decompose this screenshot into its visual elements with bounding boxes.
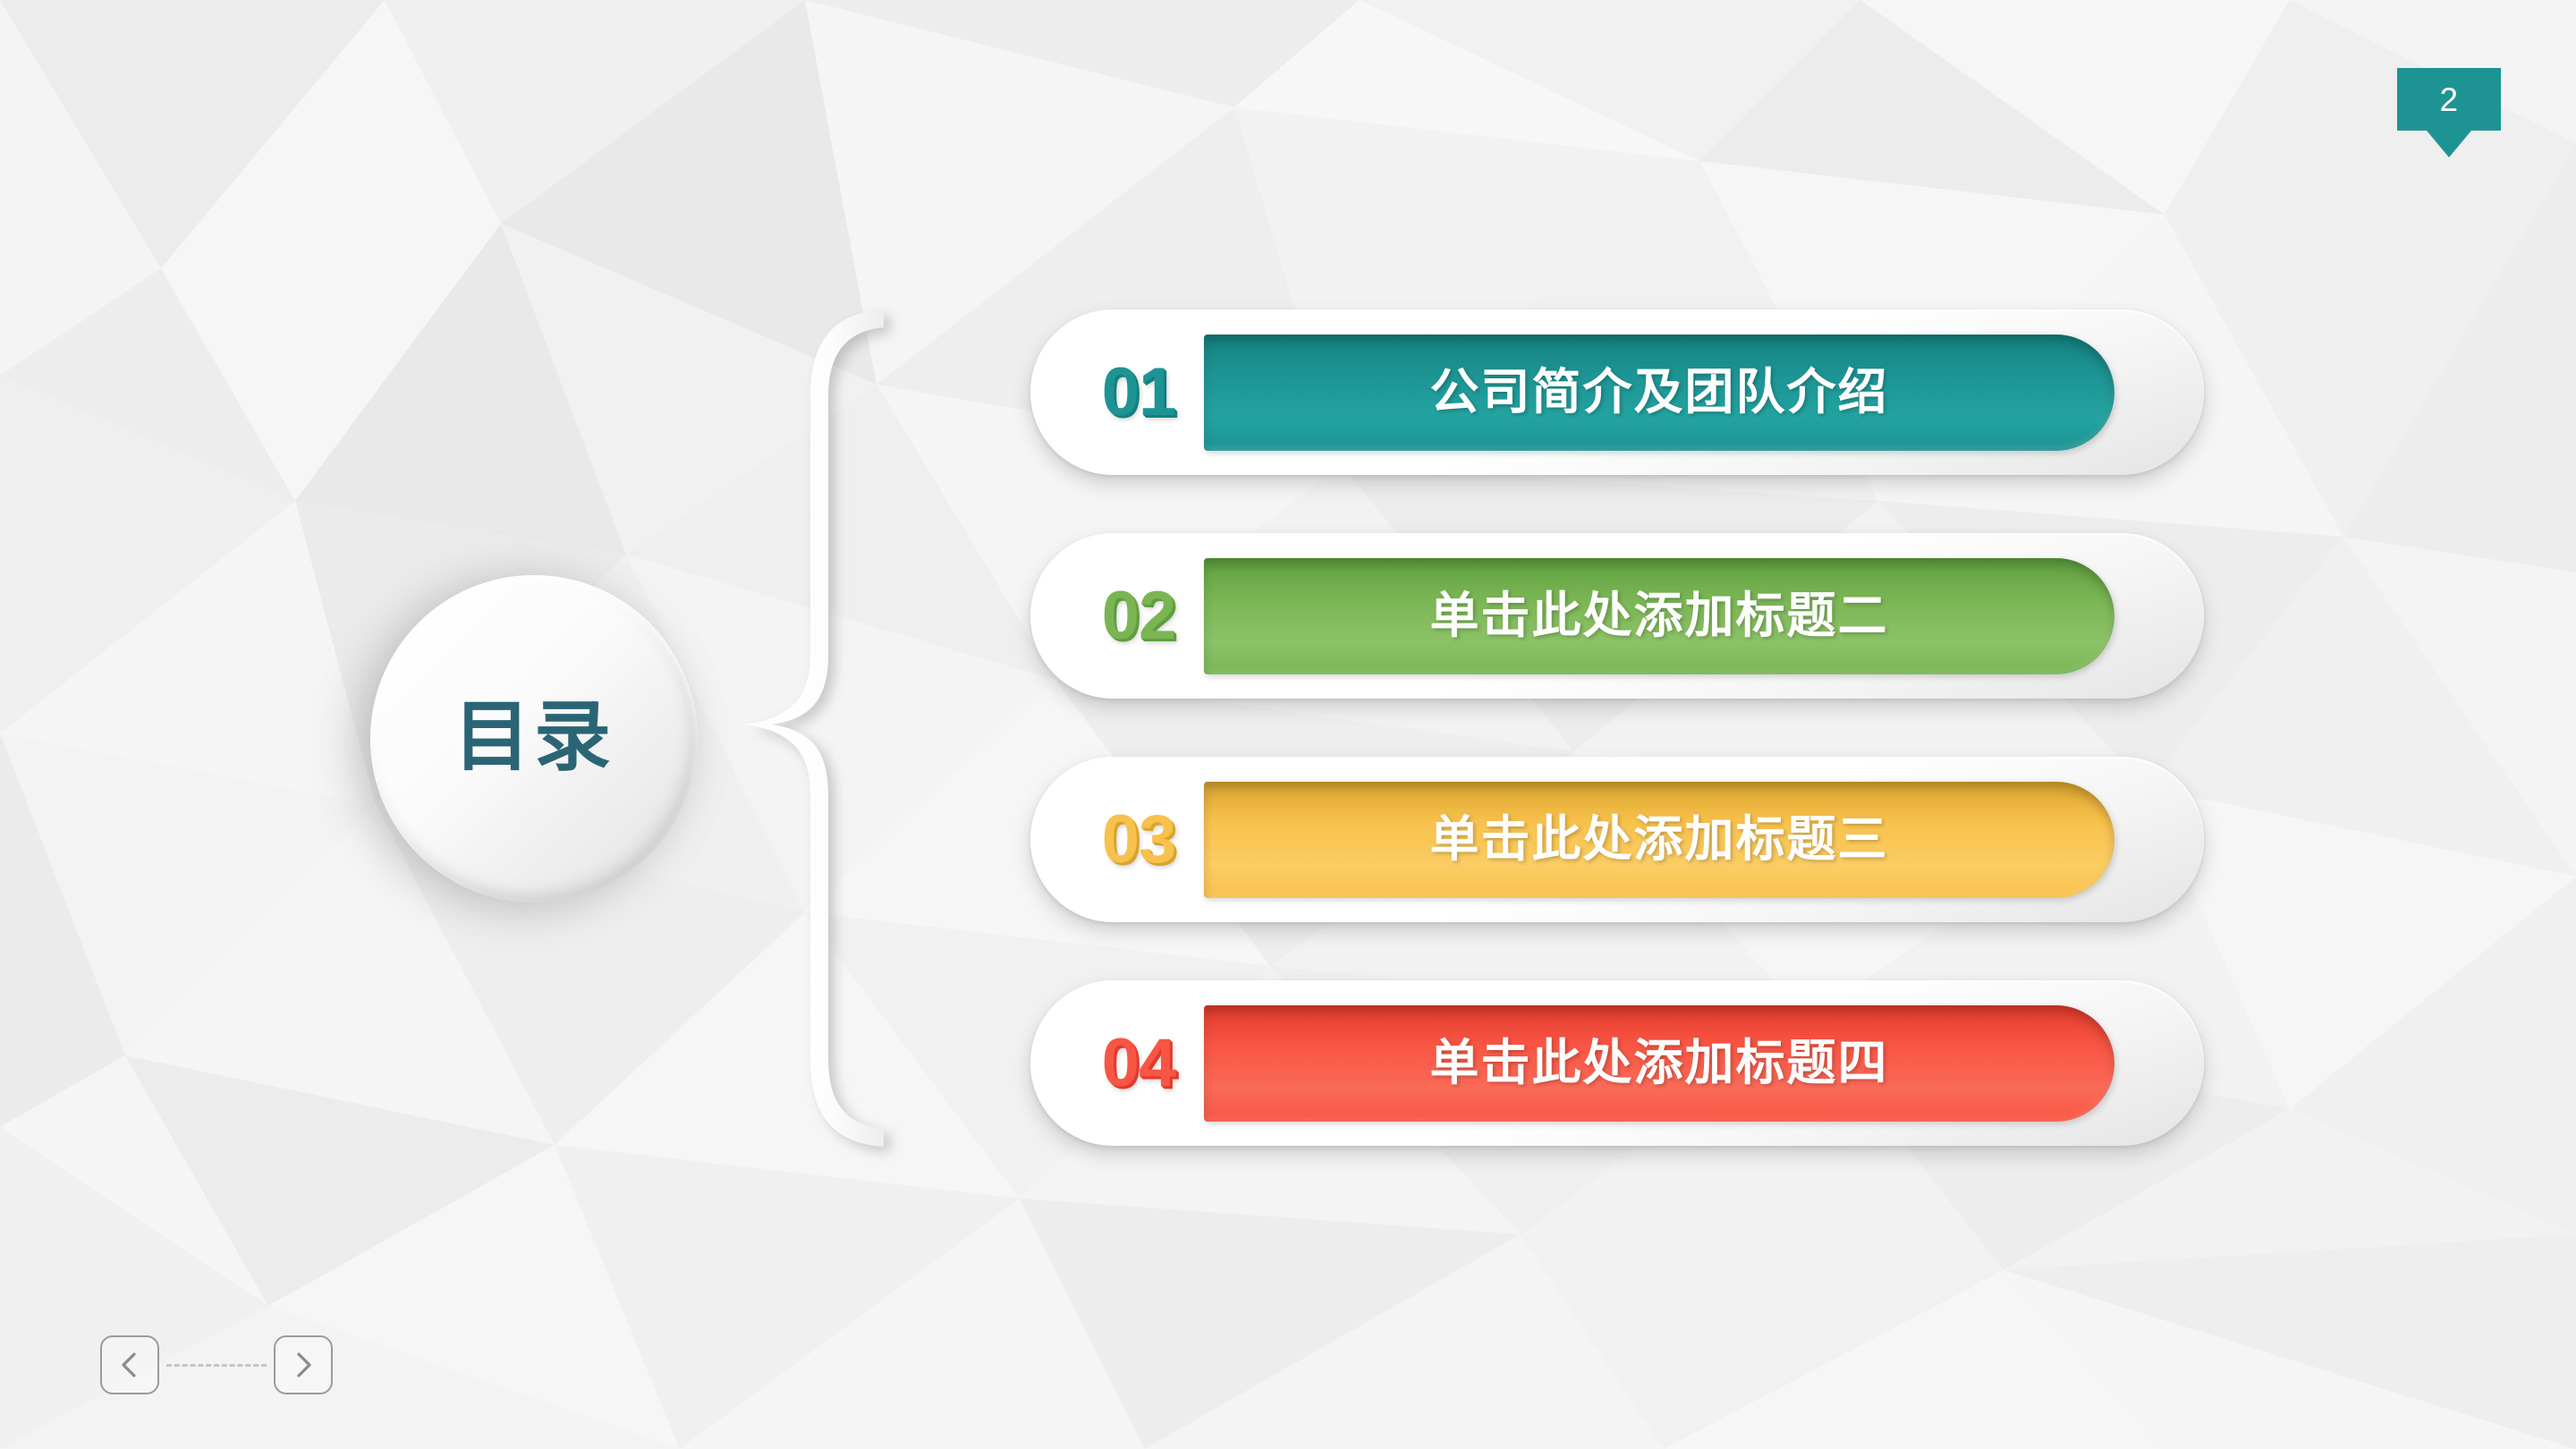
agenda-item-03[interactable]: 03 单击此处添加标题三 [1030, 757, 2204, 922]
agenda-item-title: 公司简介及团队介绍 [1429, 368, 1888, 417]
agenda-item-number: 02 [1072, 533, 1206, 699]
agenda-item-04[interactable]: 04 单击此处添加标题四 [1030, 980, 2204, 1146]
next-slide-button[interactable] [274, 1335, 333, 1394]
chevron-right-icon [291, 1350, 316, 1380]
curly-brace-icon [733, 304, 966, 1163]
agenda-item-number: 01 [1072, 309, 1206, 475]
agenda-item-number: 04 [1072, 980, 1206, 1146]
agenda-item-bar[interactable]: 公司简介及团队介绍 [1204, 335, 2114, 451]
page-number-value: 2 [2439, 83, 2458, 116]
agenda-item-02[interactable]: 02 单击此处添加标题二 [1030, 533, 2204, 699]
prev-slide-button[interactable] [100, 1335, 159, 1394]
agenda-item-bar[interactable]: 单击此处添加标题二 [1204, 558, 2114, 674]
badge-pointer-triangle [2427, 131, 2471, 157]
agenda-item-title: 单击此处添加标题二 [1429, 591, 1888, 640]
agenda-item-bar[interactable]: 单击此处添加标题四 [1204, 1005, 2114, 1122]
agenda-item-title: 单击此处添加标题四 [1429, 1038, 1888, 1088]
nav-dashed-connector [166, 1364, 267, 1367]
page-number-badge: 2 [2397, 68, 2501, 131]
agenda-item-title: 单击此处添加标题三 [1429, 815, 1888, 864]
agenda-list: 01 公司简介及团队介绍 02 单击此处添加标题二 03 单击此处添加标题三 0… [1030, 309, 2204, 1195]
chevron-left-icon [117, 1350, 142, 1380]
toc-label: 目录 [453, 699, 614, 775]
toc-circle: 目录 [370, 575, 698, 902]
toc-circle-face: 目录 [370, 575, 698, 902]
slide-navigation [100, 1331, 333, 1399]
slide-canvas: 2 目录 01 公司简介及团队介绍 [0, 0, 2576, 1449]
agenda-item-01[interactable]: 01 公司简介及团队介绍 [1030, 309, 2204, 475]
agenda-item-bar[interactable]: 单击此处添加标题三 [1204, 782, 2114, 898]
agenda-item-number: 03 [1072, 757, 1206, 922]
